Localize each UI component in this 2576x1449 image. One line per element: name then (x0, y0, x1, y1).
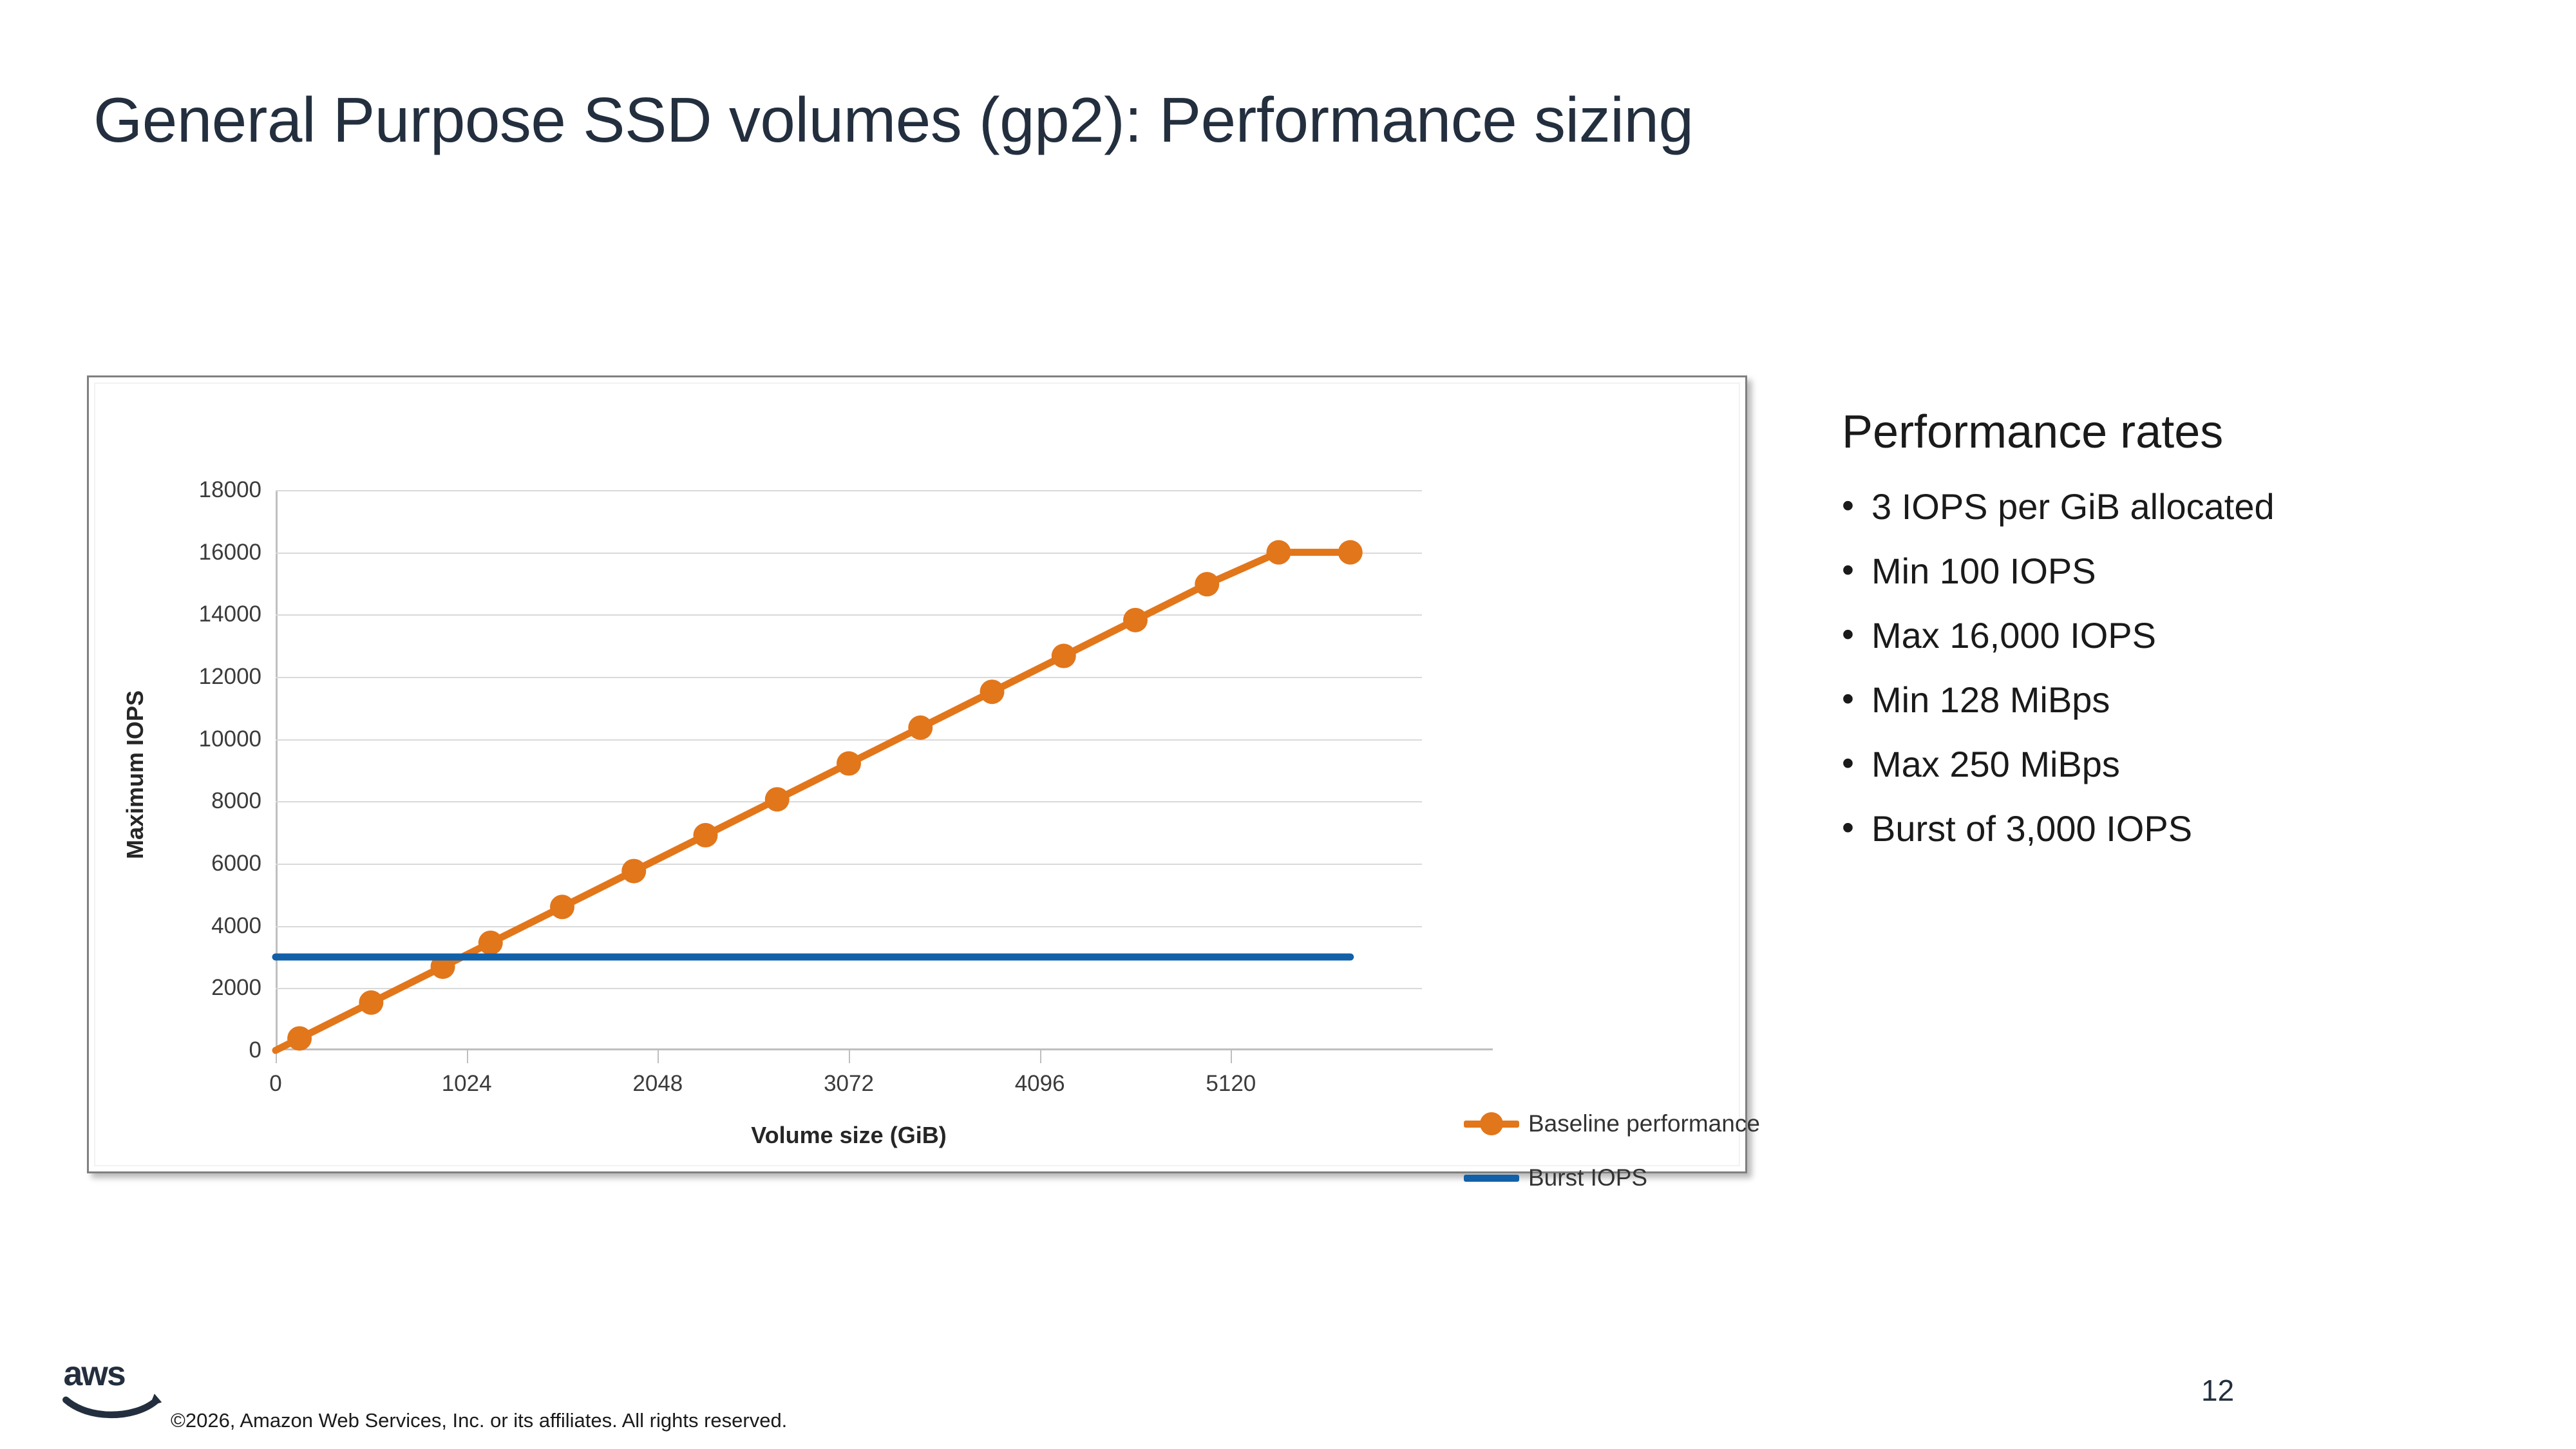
data-point-marker (359, 990, 383, 1015)
data-point-marker (1267, 540, 1291, 565)
y-tick-label: 18000 (199, 477, 261, 503)
performance-rates-panel: Performance rates •3 IOPS per GiB alloca… (1842, 406, 2499, 871)
rates-bullet-list: •3 IOPS per GiB allocated•Min 100 IOPS•M… (1842, 484, 2499, 851)
bullet-dot-icon: • (1842, 484, 1871, 528)
x-tick-label: 0 (269, 1071, 281, 1097)
data-point-marker (694, 823, 718, 848)
data-point-marker (980, 679, 1005, 704)
data-point-marker (765, 787, 790, 811)
data-point-marker (1195, 572, 1219, 596)
x-tick-mark (1040, 1050, 1041, 1063)
chart-legend: Baseline performanceBurst IOPS (1464, 1110, 1760, 1191)
y-tick-label: 16000 (199, 540, 261, 565)
y-tick-label: 4000 (211, 913, 261, 939)
svg-text:aws: aws (64, 1356, 125, 1393)
legend-marker-icon (1480, 1112, 1503, 1135)
page-title: General Purpose SSD volumes (gp2): Perfo… (93, 84, 1694, 156)
y-tick-label: 6000 (211, 851, 261, 876)
bullet-dot-icon: • (1842, 742, 1871, 786)
list-item: •Min 128 MiBps (1842, 677, 2499, 723)
legend-label: Baseline performance (1528, 1110, 1760, 1137)
y-tick-label: 0 (249, 1037, 261, 1063)
chart-container: Maximum IOPS 020004000600080001000012000… (87, 375, 1747, 1173)
x-axis-title: Volume size (GiB) (276, 1122, 1422, 1149)
y-tick-label: 2000 (211, 975, 261, 1001)
bullet-text: Max 16,000 IOPS (1871, 613, 2156, 658)
x-tick-label: 3072 (824, 1071, 874, 1097)
list-item: •Burst of 3,000 IOPS (1842, 806, 2499, 851)
bullet-text: Min 100 IOPS (1871, 549, 2096, 594)
data-point-marker (1123, 608, 1148, 632)
data-point-marker (478, 931, 503, 955)
plot-area: 0200040006000800010000120001400016000180… (276, 490, 1422, 1050)
y-tick-label: 10000 (199, 726, 261, 752)
page-number: 12 (2201, 1373, 2234, 1408)
x-tick-label: 5120 (1206, 1071, 1256, 1097)
data-point-marker (621, 859, 646, 884)
x-tick-label: 1024 (442, 1071, 492, 1097)
y-tick-label: 8000 (211, 788, 261, 814)
rates-heading: Performance rates (1842, 406, 2499, 459)
x-tick-mark (467, 1050, 468, 1063)
aws-logo: aws (61, 1356, 174, 1423)
series-lines (276, 490, 1422, 1050)
x-tick-mark (849, 1050, 850, 1063)
legend-label: Burst IOPS (1528, 1164, 1647, 1191)
data-point-marker (908, 715, 933, 740)
data-point-marker (287, 1026, 312, 1050)
list-item: •Max 250 MiBps (1842, 742, 2499, 787)
bullet-text: Max 250 MiBps (1871, 742, 2120, 787)
legend-item[interactable]: Burst IOPS (1464, 1164, 1760, 1191)
x-tick-mark (658, 1050, 659, 1063)
bullet-text: Burst of 3,000 IOPS (1871, 806, 2192, 851)
x-tick-mark (1231, 1050, 1232, 1063)
data-point-marker (837, 752, 861, 776)
bullet-text: Min 128 MiBps (1871, 677, 2110, 723)
x-tick-label: 2048 (632, 1071, 683, 1097)
data-point-marker (1338, 540, 1363, 565)
legend-item[interactable]: Baseline performance (1464, 1110, 1760, 1137)
y-tick-label: 14000 (199, 601, 261, 627)
chart-inner-panel: Maximum IOPS 020004000600080001000012000… (94, 383, 1740, 1166)
data-point-marker (1052, 644, 1076, 668)
bullet-text: 3 IOPS per GiB allocated (1871, 484, 2275, 529)
bullet-dot-icon: • (1842, 677, 1871, 721)
bullet-dot-icon: • (1842, 613, 1871, 657)
list-item: •3 IOPS per GiB allocated (1842, 484, 2499, 529)
x-tick-label: 4096 (1015, 1071, 1065, 1097)
y-tick-label: 12000 (199, 664, 261, 690)
bullet-dot-icon: • (1842, 806, 1871, 850)
copyright-text: ©2026, Amazon Web Services, Inc. or its … (171, 1409, 787, 1432)
y-axis-title: Maximum IOPS (122, 690, 149, 858)
legend-swatch-icon (1464, 1121, 1519, 1128)
list-item: •Max 16,000 IOPS (1842, 613, 2499, 658)
legend-swatch-icon (1464, 1175, 1519, 1182)
list-item: •Min 100 IOPS (1842, 549, 2499, 594)
data-point-marker (550, 895, 574, 919)
bullet-dot-icon: • (1842, 549, 1871, 592)
